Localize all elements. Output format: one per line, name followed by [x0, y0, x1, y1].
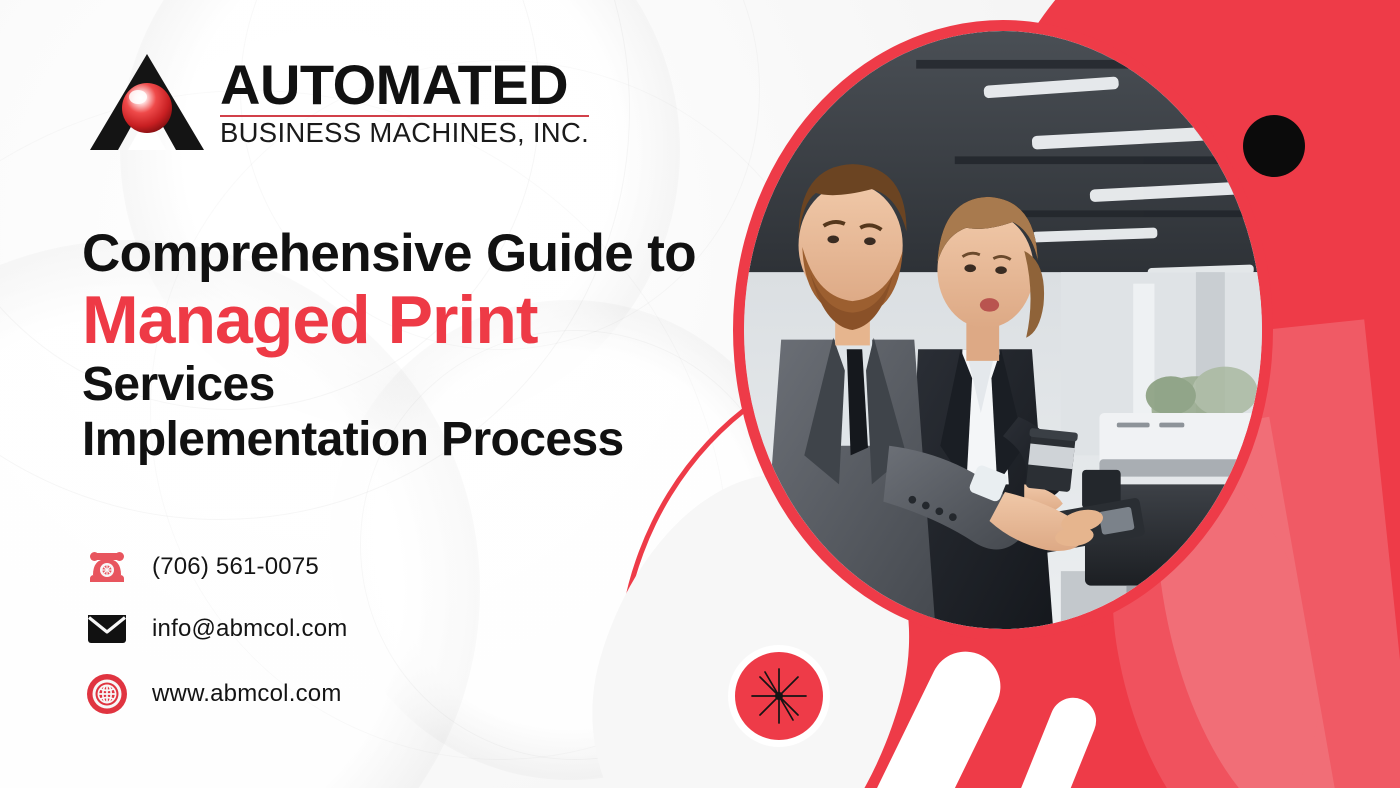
- contact-email[interactable]: info@abmcol.com: [84, 612, 347, 646]
- contact-phone-label: (706) 561-0075: [152, 553, 319, 581]
- contact-phone[interactable]: (706) 561-0075: [84, 548, 347, 586]
- headline-line-2: Managed Print: [82, 282, 742, 358]
- contact-website-label: www.abmcol.com: [152, 680, 342, 708]
- telephone-icon: [84, 548, 130, 586]
- starburst-badge-icon: [728, 645, 830, 747]
- photo-image: [744, 31, 1262, 629]
- headline-line-1: Comprehensive Guide to: [82, 226, 742, 282]
- contact-list: (706) 561-0075 info@abmcol.com: [84, 548, 347, 716]
- headline-line-3: Services: [82, 358, 742, 413]
- poster-canvas: AUTOMATED BUSINESS MACHINES, INC. Compre…: [0, 0, 1400, 788]
- headline-line-4: Implementation Process: [82, 413, 742, 468]
- company-logo: AUTOMATED BUSINESS MACHINES, INC.: [88, 52, 589, 152]
- hero-photo: [733, 20, 1273, 640]
- page-title: Comprehensive Guide to Managed Print Ser…: [82, 226, 742, 468]
- triangle-sphere-logo-icon: [88, 52, 206, 152]
- photo-red-ring: [733, 20, 1273, 640]
- logo-name-primary: AUTOMATED: [220, 58, 589, 112]
- black-dot-accent: [1243, 115, 1305, 177]
- envelope-icon: [84, 612, 130, 646]
- globe-icon: [84, 672, 130, 716]
- logo-name-secondary: BUSINESS MACHINES, INC.: [220, 119, 589, 148]
- contact-email-label: info@abmcol.com: [152, 615, 347, 643]
- logo-wordmark: AUTOMATED BUSINESS MACHINES, INC.: [220, 58, 589, 152]
- contact-website[interactable]: www.abmcol.com: [84, 672, 347, 716]
